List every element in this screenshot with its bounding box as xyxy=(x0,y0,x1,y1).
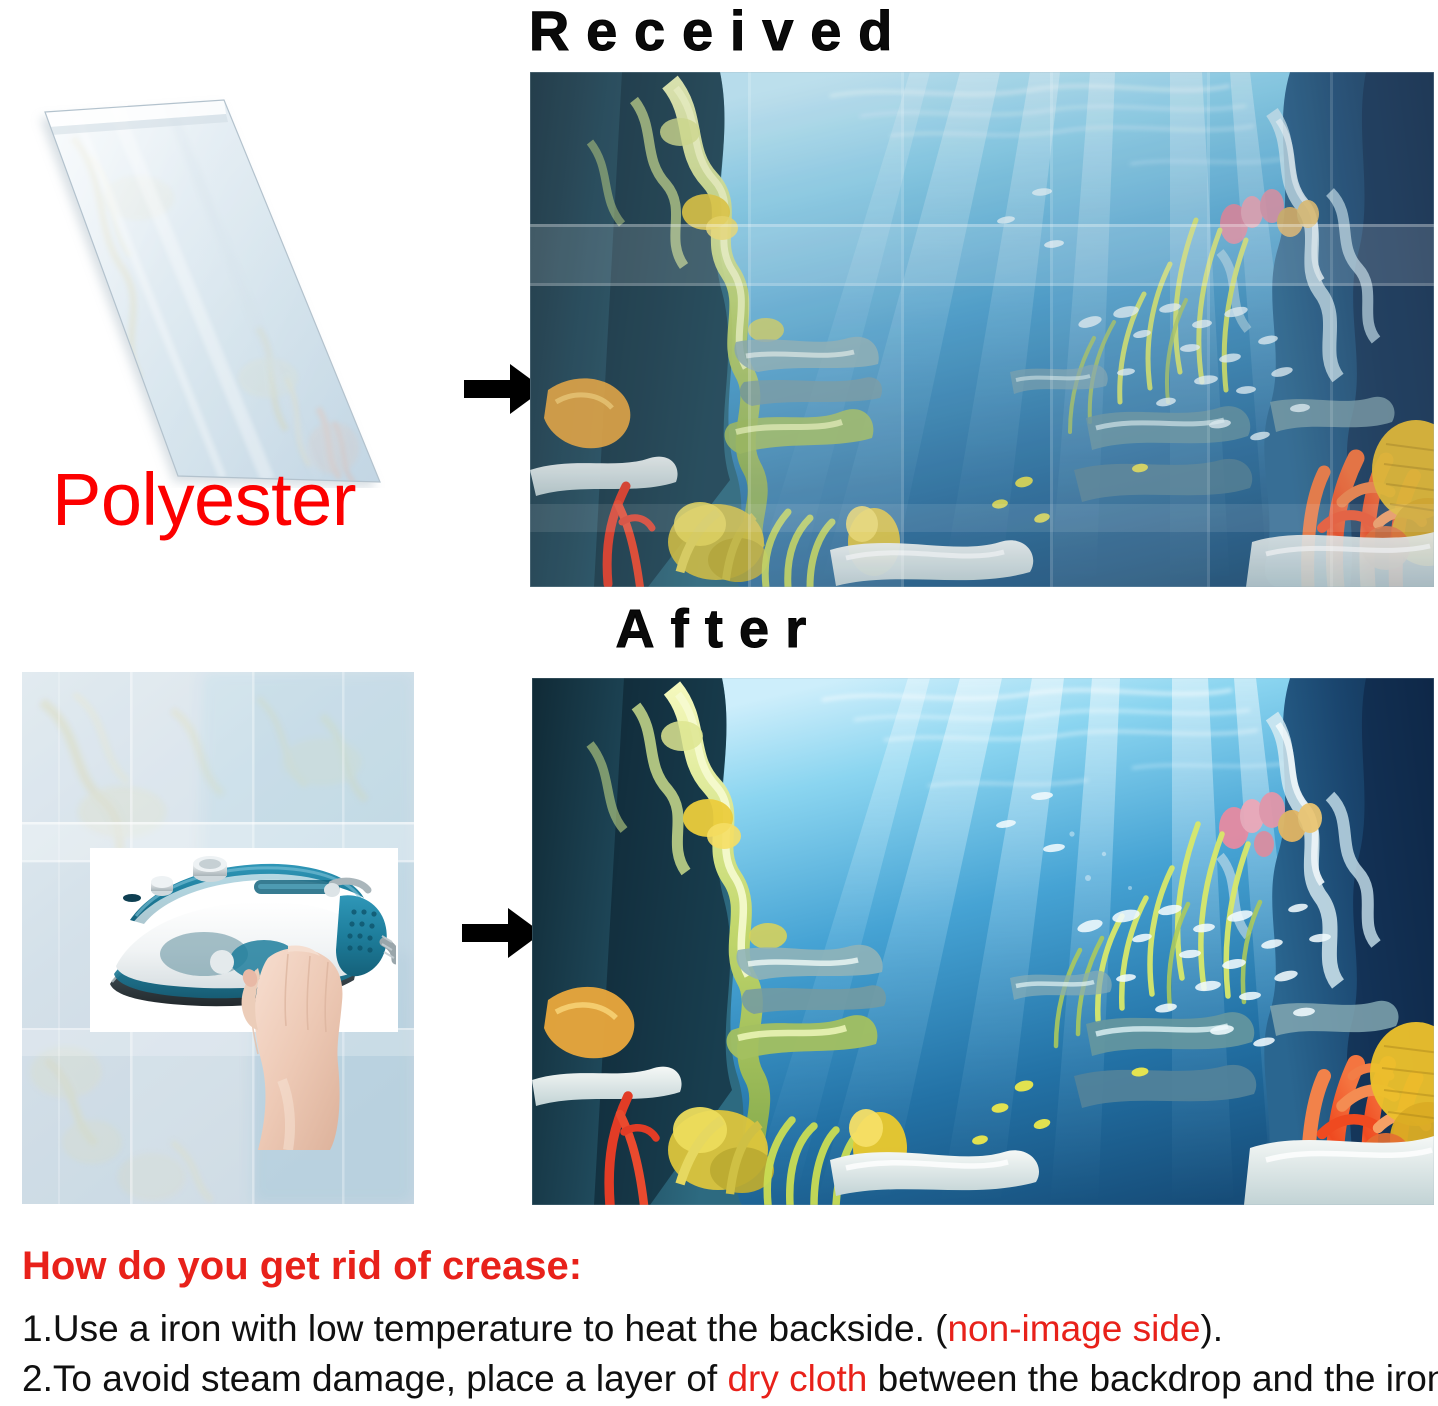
instruction-line-2: 2.To avoid steam damage, place a layer o… xyxy=(22,1356,1432,1402)
polyester-label: Polyester xyxy=(52,458,356,542)
instruction-line-1: 1.Use a iron with low temperature to hea… xyxy=(22,1306,1432,1352)
after-backdrop-photo xyxy=(532,678,1434,1205)
instruction-2-part-3: between the backdrop and the iron. xyxy=(867,1358,1438,1399)
hand-icon xyxy=(241,945,343,1150)
received-backdrop-photo xyxy=(530,72,1434,587)
instructions-heading: How do you get rid of crease: xyxy=(22,1243,1432,1289)
instruction-1-highlight: non-image side xyxy=(947,1308,1200,1349)
steam-iron-icon xyxy=(92,850,396,1150)
after-section-title: After xyxy=(0,597,1438,661)
instruction-2-part-1: 2.To avoid steam damage, place a layer o… xyxy=(22,1358,727,1399)
instruction-1-part-3: ). xyxy=(1200,1308,1223,1349)
received-section-title: Received xyxy=(0,0,1438,64)
instruction-1-part-1: 1.Use a iron with low temperature to hea… xyxy=(22,1308,947,1349)
instruction-2-highlight: dry cloth xyxy=(727,1358,867,1399)
instructions-block: How do you get rid of crease: 1.Use a ir… xyxy=(22,1243,1432,1406)
folded-fabric-image xyxy=(18,78,438,488)
